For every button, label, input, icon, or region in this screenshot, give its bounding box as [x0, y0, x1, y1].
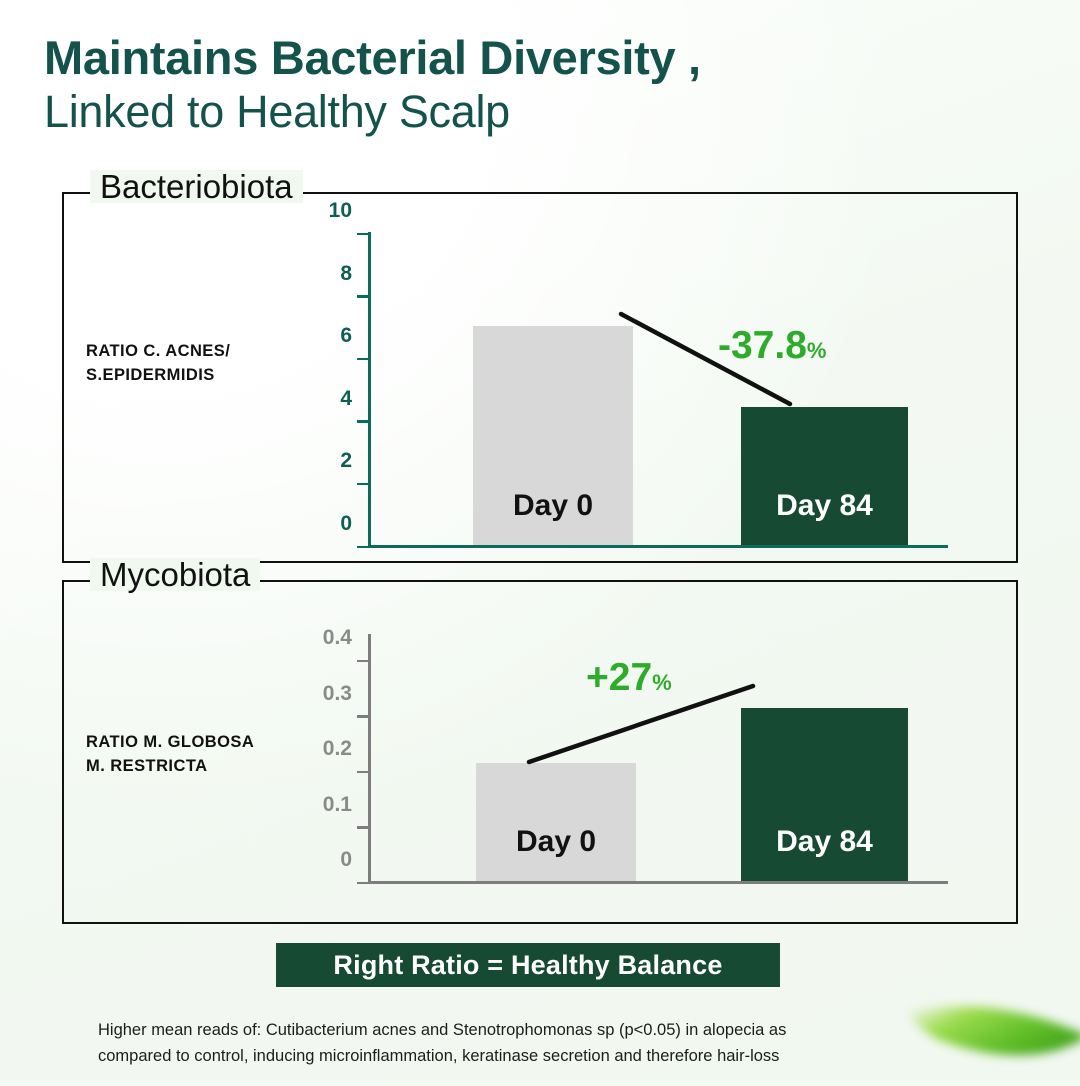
delta-value: -37.8	[718, 324, 807, 367]
bar-day-84: Day 84	[741, 708, 908, 881]
y-axis-label-mycobiota: RATIO M. GLOBOSA M. RESTRICTA	[86, 731, 254, 779]
y-tick-label: 2	[340, 449, 352, 473]
bar-label: Day 84	[776, 825, 873, 881]
balance-banner: Right Ratio = Healthy Balance	[276, 943, 780, 987]
y-tick-label: 0	[340, 512, 352, 536]
bar-day-0: Day 0	[473, 326, 633, 545]
y-tick	[357, 295, 368, 298]
y-tick-label: 0.1	[323, 793, 352, 817]
delta-value: +27	[586, 656, 652, 699]
delta-unit: %	[807, 338, 827, 363]
delta-badge-bacteriobiota: -37.8%	[718, 326, 826, 365]
chart-mycobiota: 0 0.1 0.2 0.3 0.4 Day 0 Day 84 +27%	[368, 634, 948, 884]
footnote-line-2: compared to control, inducing microinfla…	[98, 1044, 988, 1070]
y-tick	[357, 715, 368, 718]
delta-badge-mycobiota: +27%	[586, 658, 672, 697]
y-tick-label: 4	[340, 387, 352, 411]
chart-bacteriobiota: 0 2 4 6 8 10 Day 0 Day 84 -37.8%	[368, 232, 948, 548]
bar-label: Day 0	[516, 825, 596, 881]
y-axis-line	[368, 634, 371, 884]
y-axis-label-bacteriobiota: RATIO C. ACNES/ S.EPIDERMIDIS	[86, 340, 230, 388]
page-title: Maintains Bacterial Diversity , Linked t…	[44, 34, 1024, 136]
panel-title-bacteriobiota: Bacteriobiota	[90, 170, 303, 203]
bar-label: Day 0	[513, 489, 593, 545]
y-tick	[357, 546, 368, 549]
banner-label: Right Ratio = Healthy Balance	[333, 950, 722, 981]
bar-day-84: Day 84	[741, 407, 908, 545]
y-tick	[357, 882, 368, 885]
y-tick-label: 0.2	[323, 737, 352, 761]
y-tick	[357, 483, 368, 486]
y-tick	[357, 826, 368, 829]
y-tick	[357, 233, 368, 236]
y-tick-label: 6	[340, 324, 352, 348]
bar-day-0: Day 0	[476, 763, 636, 881]
y-tick	[357, 771, 368, 774]
delta-unit: %	[652, 670, 672, 695]
title-line-2: Linked to Healthy Scalp	[44, 89, 1024, 135]
footnote: Higher mean reads of: Cutibacterium acne…	[98, 1018, 988, 1069]
infographic-canvas: Maintains Bacterial Diversity , Linked t…	[0, 0, 1080, 1080]
y-tick-label: 0.3	[323, 682, 352, 706]
x-axis-baseline	[368, 545, 948, 548]
y-axis-line	[368, 232, 371, 548]
y-tick-label: 10	[329, 199, 352, 223]
y-tick	[357, 420, 368, 423]
footnote-line-1: Higher mean reads of: Cutibacterium acne…	[98, 1018, 988, 1044]
x-axis-baseline	[368, 881, 948, 884]
panel-title-mycobiota: Mycobiota	[90, 558, 260, 591]
title-line-1: Maintains Bacterial Diversity ,	[44, 34, 1024, 82]
y-tick	[357, 660, 368, 663]
y-tick-label: 8	[340, 262, 352, 286]
y-tick-label: 0.4	[323, 626, 352, 650]
bar-label: Day 84	[776, 489, 873, 545]
y-tick	[357, 358, 368, 361]
y-tick-label: 0	[340, 848, 352, 872]
